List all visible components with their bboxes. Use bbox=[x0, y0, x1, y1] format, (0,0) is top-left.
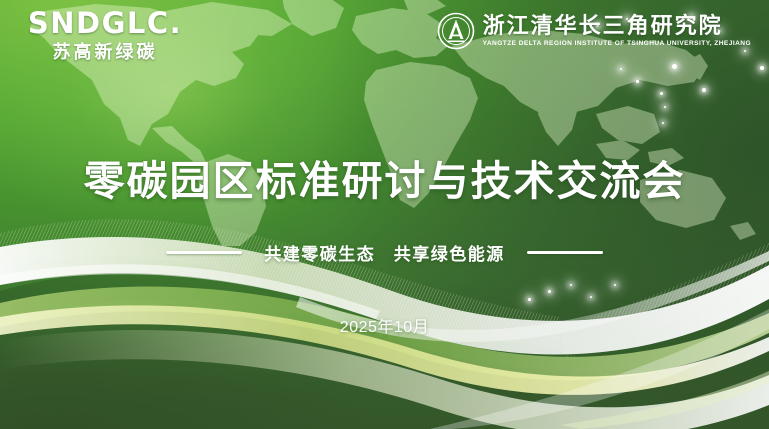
presentation-title-slide: SNDGLC. 苏高新绿碳 浙江清华长三角研究院 YANGTZE DELTA R… bbox=[0, 0, 769, 429]
yrdi-english-name: YANGTZE DELTA REGION INSTITUTE OF TSINGH… bbox=[483, 41, 751, 48]
subtitle-rule-left bbox=[166, 251, 242, 254]
slide-date: 2025年10月 bbox=[0, 313, 769, 337]
sndglc-wordmark: SNDGLC. bbox=[20, 9, 190, 38]
slide-title: 零碳园区标准研讨与技术交流会 bbox=[0, 147, 769, 207]
yrdi-chinese-name: 浙江清华长三角研究院 bbox=[483, 15, 751, 37]
tsinghua-yrdi-emblem-icon bbox=[437, 12, 475, 50]
sndglc-logo: SNDGLC. 苏高新绿碳 bbox=[20, 9, 190, 61]
slide-subtitle-row: 共建零碳生态 共享绿色能源 bbox=[0, 240, 769, 265]
subtitle-rule-right bbox=[527, 251, 603, 254]
sndglc-chinese-name: 苏高新绿碳 bbox=[20, 43, 190, 61]
slide-subtitle: 共建零碳生态 共享绿色能源 bbox=[264, 240, 505, 265]
yrdi-tsinghua-logo: 浙江清华长三角研究院 YANGTZE DELTA REGION INSTITUT… bbox=[437, 12, 751, 50]
